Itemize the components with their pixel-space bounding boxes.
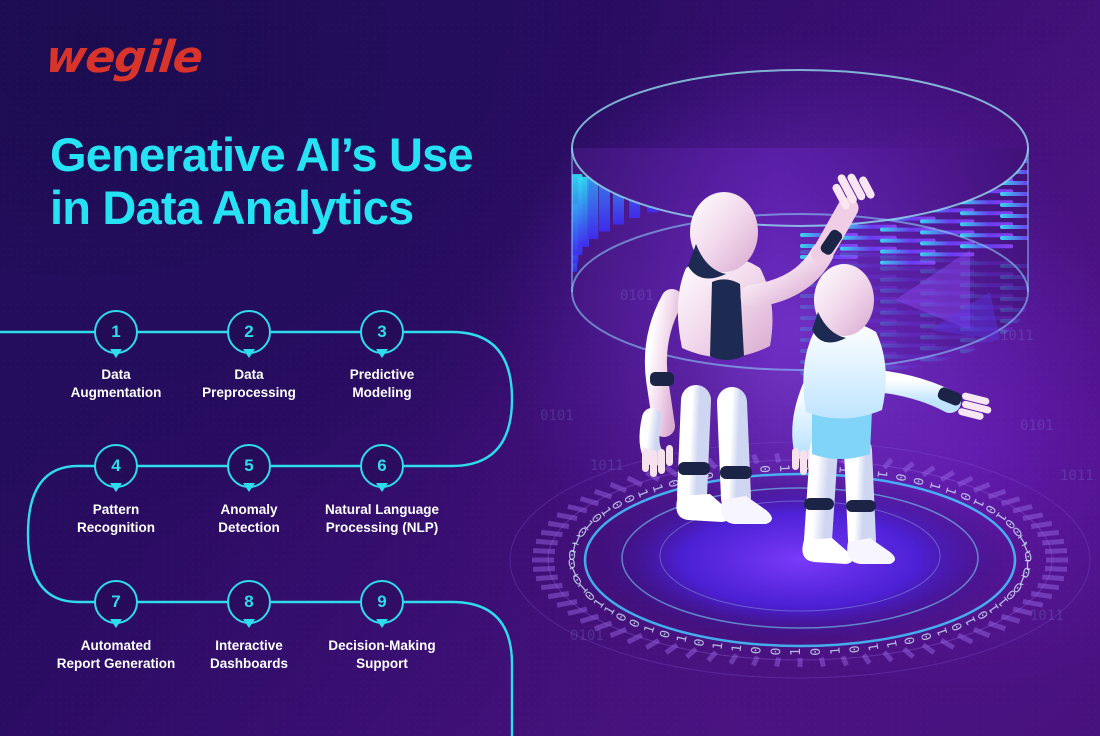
svg-text:1: 1 bbox=[828, 646, 844, 655]
svg-text:1: 1 bbox=[711, 641, 727, 651]
flow-label-9: Decision-Making Support bbox=[287, 637, 477, 673]
flow-label-9-line-1: Decision-Making bbox=[287, 637, 477, 655]
chevron-down-icon bbox=[376, 619, 388, 628]
svg-text:0: 0 bbox=[919, 631, 936, 643]
node-number: 9 bbox=[360, 580, 404, 624]
svg-text:1011: 1011 bbox=[1030, 608, 1064, 624]
infographic-canvas: wegile Generative AI’s Use in Data Analy… bbox=[0, 0, 1100, 736]
flow-node-6[interactable]: 6 bbox=[360, 444, 404, 488]
svg-text:1011: 1011 bbox=[1060, 468, 1094, 484]
page-title-line-1: Generative AI’s Use bbox=[50, 128, 520, 181]
svg-text:0: 0 bbox=[902, 635, 918, 646]
svg-text:0101: 0101 bbox=[1020, 418, 1054, 434]
chevron-down-icon bbox=[376, 349, 388, 358]
svg-text:0: 0 bbox=[848, 645, 864, 654]
svg-text:0: 0 bbox=[692, 637, 708, 647]
svg-text:0: 0 bbox=[769, 647, 784, 655]
flow-label-9-line-2: Support bbox=[287, 655, 477, 673]
flow-label-6: Natural Language Processing (NLP) bbox=[287, 501, 477, 537]
svg-text:1: 1 bbox=[776, 464, 791, 472]
svg-text:1011: 1011 bbox=[590, 458, 624, 474]
node-number: 3 bbox=[360, 310, 404, 354]
flow-node-1[interactable]: 1 bbox=[94, 310, 138, 354]
svg-text:0: 0 bbox=[809, 648, 824, 656]
svg-text:1: 1 bbox=[730, 644, 746, 653]
svg-text:1011: 1011 bbox=[1000, 328, 1034, 344]
svg-text:0101: 0101 bbox=[540, 408, 574, 424]
flow-node-4[interactable]: 4 bbox=[94, 444, 138, 488]
flow-label-3-line-2: Modeling bbox=[287, 384, 477, 402]
flow-node-3[interactable]: 3 bbox=[360, 310, 404, 354]
page-title-line-2: in Data Analytics bbox=[50, 181, 520, 234]
hero-illustration: 1010011010100110101001101010011010100110… bbox=[500, 0, 1100, 736]
node-number: 4 bbox=[94, 444, 138, 488]
flow-label-6-line-2: Processing (NLP) bbox=[287, 519, 477, 537]
svg-text:0101: 0101 bbox=[620, 288, 654, 304]
chevron-down-icon bbox=[376, 483, 388, 492]
svg-text:0: 0 bbox=[658, 629, 675, 641]
flow-label-6-line-1: Natural Language bbox=[287, 501, 477, 519]
flow-node-9[interactable]: 9 bbox=[360, 580, 404, 624]
node-number: 8 bbox=[227, 580, 271, 624]
svg-text:1: 1 bbox=[789, 648, 804, 656]
node-number: 2 bbox=[227, 310, 271, 354]
chevron-down-icon bbox=[243, 619, 255, 628]
node-number: 5 bbox=[227, 444, 271, 488]
chevron-down-icon bbox=[110, 349, 122, 358]
node-number: 7 bbox=[94, 580, 138, 624]
chevron-down-icon bbox=[243, 349, 255, 358]
node-number: 6 bbox=[360, 444, 404, 488]
flow-label-3: Predictive Modeling bbox=[287, 366, 477, 402]
page-title: Generative AI’s Use in Data Analytics bbox=[50, 128, 520, 234]
svg-text:0: 0 bbox=[749, 646, 765, 655]
svg-text:0: 0 bbox=[756, 465, 772, 474]
svg-text:0101: 0101 bbox=[570, 628, 604, 644]
chevron-down-icon bbox=[243, 483, 255, 492]
svg-text:1: 1 bbox=[867, 642, 883, 652]
process-flow-diagram: 1 Data Augmentation 2 Data Preprocessing… bbox=[0, 286, 540, 736]
flow-node-2[interactable]: 2 bbox=[227, 310, 271, 354]
node-number: 1 bbox=[94, 310, 138, 354]
flow-node-5[interactable]: 5 bbox=[227, 444, 271, 488]
chevron-down-icon bbox=[110, 619, 122, 628]
wegile-logo[interactable]: wegile bbox=[43, 32, 204, 83]
flow-node-8[interactable]: 8 bbox=[227, 580, 271, 624]
svg-text:1: 1 bbox=[674, 633, 690, 644]
flow-node-7[interactable]: 7 bbox=[94, 580, 138, 624]
svg-text:1: 1 bbox=[885, 639, 901, 649]
chevron-down-icon bbox=[110, 483, 122, 492]
flow-label-3-line-1: Predictive bbox=[287, 366, 477, 384]
